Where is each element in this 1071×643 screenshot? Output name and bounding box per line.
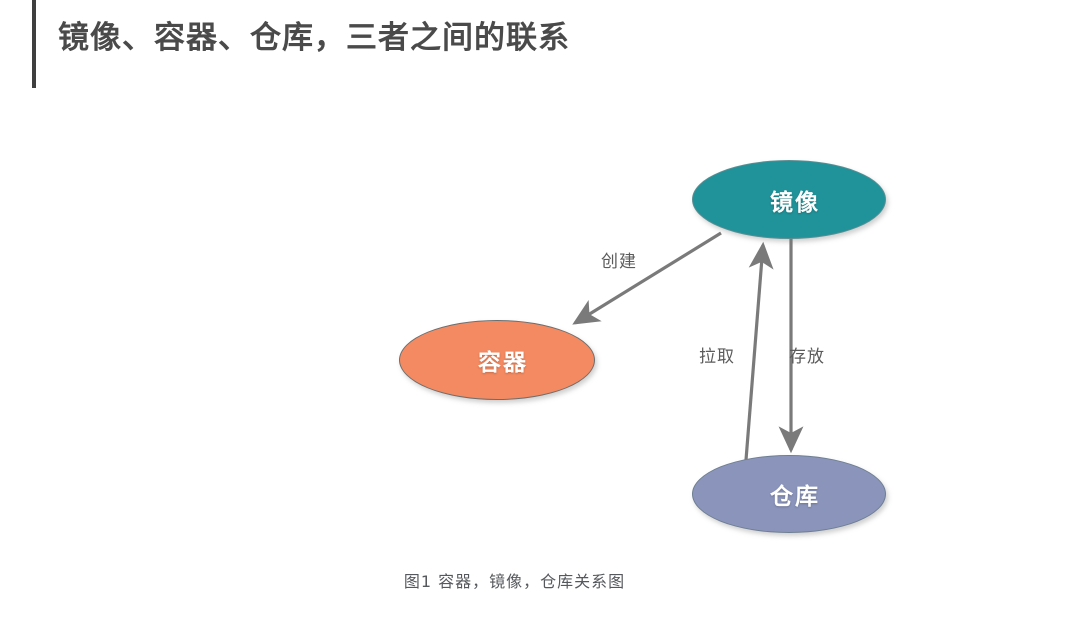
header: 镜像、容器、仓库，三者之间的联系 [0, 0, 1071, 92]
figure-caption: 图1 容器，镜像，仓库关系图 [0, 568, 1071, 592]
node-image-label: 镜像 [770, 183, 820, 217]
node-image[interactable]: 镜像 [692, 160, 886, 239]
node-repo[interactable]: 仓库 [692, 455, 886, 533]
slide-page: 镜像、容器、仓库，三者之间的联系 镜像 容器 仓库 [0, 0, 1071, 643]
relationship-diagram: 镜像 容器 仓库 创建 拉取 存放 图1 容器，镜像，仓库关系图 [0, 92, 1071, 643]
edge-create-line [575, 233, 721, 323]
edge-pull-line [746, 245, 763, 460]
edge-label-pull: 拉取 [699, 342, 735, 367]
node-container[interactable]: 容器 [399, 320, 595, 400]
node-container-label: 容器 [478, 343, 528, 377]
title-accent-bar [32, 0, 36, 88]
page-title: 镜像、容器、仓库，三者之间的联系 [58, 17, 570, 59]
node-repo-label: 仓库 [770, 477, 820, 511]
edge-label-create: 创建 [601, 247, 637, 272]
figure-caption-text: 图1 容器，镜像，仓库关系图 [404, 568, 625, 592]
edge-label-push: 存放 [789, 342, 825, 367]
